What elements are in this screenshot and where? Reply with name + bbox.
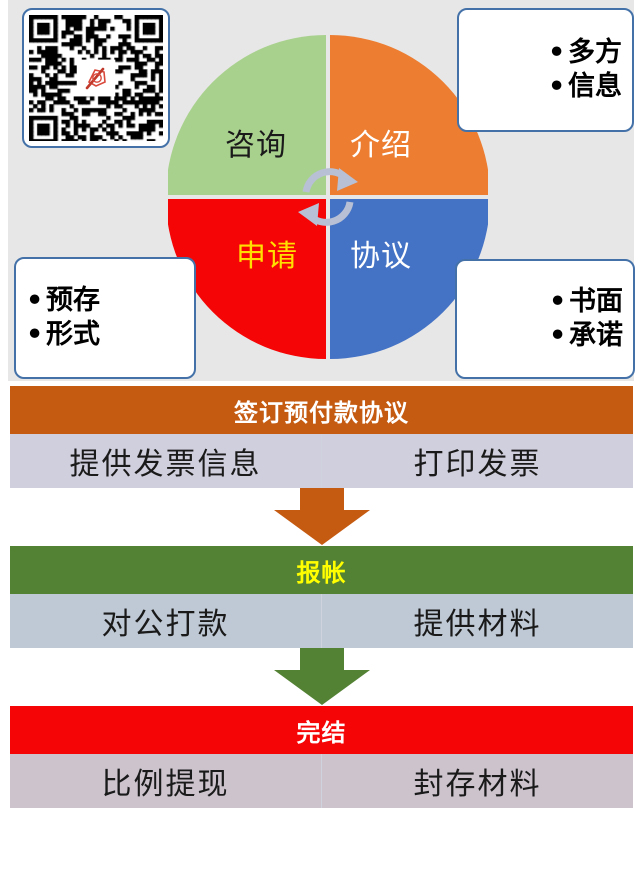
flow-stage-title: 签订预付款协议 — [10, 386, 633, 434]
note-item-label: 信息 — [568, 71, 622, 102]
wheel-label-intro: 介绍 — [350, 120, 412, 164]
bullet-icon: • — [549, 285, 569, 319]
note-item-label: 多方 — [568, 37, 622, 68]
flow-stage-title: 报帐 — [10, 546, 633, 594]
cycle-diagram-panel: 咨询 介绍 申请 协议 •多方 •信息 •预存 •形式 •书面 •承诺 — [8, 0, 634, 381]
flow-stage-title: 完结 — [10, 706, 633, 754]
down-arrow-icon — [262, 648, 382, 706]
note-item: •形式 — [26, 318, 100, 352]
note-box-top-right: •多方 •信息 — [457, 8, 634, 132]
flow-cell: 提供材料 — [322, 594, 633, 648]
cycle-wheel: 咨询 介绍 申请 协议 — [168, 16, 488, 374]
wheel-quadrant-consult — [168, 35, 326, 195]
note-item-label: 承诺 — [569, 320, 623, 351]
bullet-icon: • — [26, 318, 46, 352]
bullet-icon: • — [549, 319, 569, 353]
note-box-bottom-right: •书面 •承诺 — [455, 259, 635, 379]
flow-connector-1 — [10, 488, 633, 548]
bullet-icon: • — [26, 284, 46, 318]
flow-stage-body: 比例提现 封存材料 — [10, 754, 633, 808]
bullet-icon: • — [548, 36, 568, 70]
process-flow: 签订预付款协议 提供发票信息 打印发票 报帐 对公打款 提供材料 完结 比例提现… — [10, 386, 633, 866]
note-item: •承诺 — [549, 319, 623, 353]
flow-cell: 对公打款 — [10, 594, 322, 648]
note-item: •书面 — [549, 285, 623, 319]
note-box-bottom-left: •预存 •形式 — [14, 257, 196, 379]
flow-cell: 提供发票信息 — [10, 434, 322, 488]
qr-code[interactable] — [22, 8, 170, 148]
note-item-label: 书面 — [569, 286, 623, 317]
flow-stage-reimburse: 报帐 对公打款 提供材料 — [10, 546, 633, 648]
note-item: •信息 — [548, 70, 622, 104]
flow-stage-agreement: 签订预付款协议 提供发票信息 打印发票 — [10, 386, 633, 488]
note-item-label: 形式 — [46, 319, 100, 350]
wheel-label-agreement: 协议 — [350, 231, 412, 275]
flow-stage-body: 提供发票信息 打印发票 — [10, 434, 633, 488]
wheel-label-consult: 咨询 — [225, 120, 287, 164]
pen-logo-icon — [79, 61, 113, 95]
down-arrow-icon — [262, 488, 382, 546]
flow-stage-complete: 完结 比例提现 封存材料 — [10, 706, 633, 808]
flow-cell: 封存材料 — [322, 754, 633, 808]
wheel-label-apply: 申请 — [236, 231, 298, 275]
note-item: •预存 — [26, 284, 100, 318]
flow-cell: 打印发票 — [322, 434, 633, 488]
flow-cell: 比例提现 — [10, 754, 322, 808]
flow-connector-2 — [10, 648, 633, 708]
note-item: •多方 — [548, 36, 622, 70]
note-item-label: 预存 — [46, 285, 100, 316]
flow-stage-body: 对公打款 提供材料 — [10, 594, 633, 648]
bullet-icon: • — [548, 70, 568, 104]
